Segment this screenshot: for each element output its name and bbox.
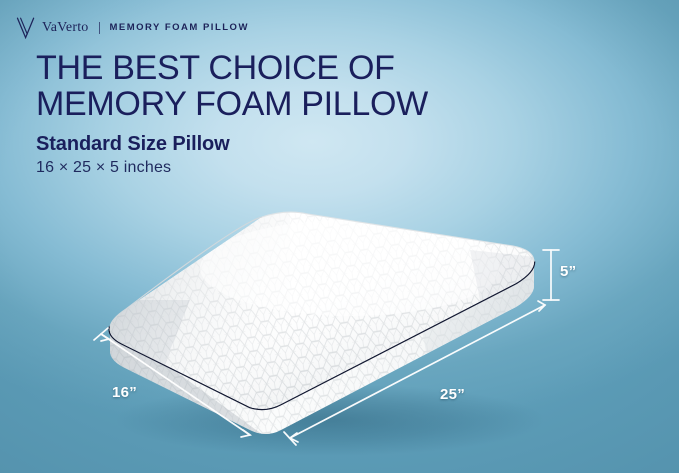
dimension-line-25 [284, 301, 545, 445]
dimension-callouts [0, 0, 679, 473]
dimension-line-16 [94, 328, 250, 437]
dimension-label-5: 5” [560, 263, 576, 280]
dimension-label-25: 25” [440, 386, 465, 403]
dimension-label-16: 16” [112, 384, 137, 401]
dimension-line-5 [543, 250, 559, 300]
